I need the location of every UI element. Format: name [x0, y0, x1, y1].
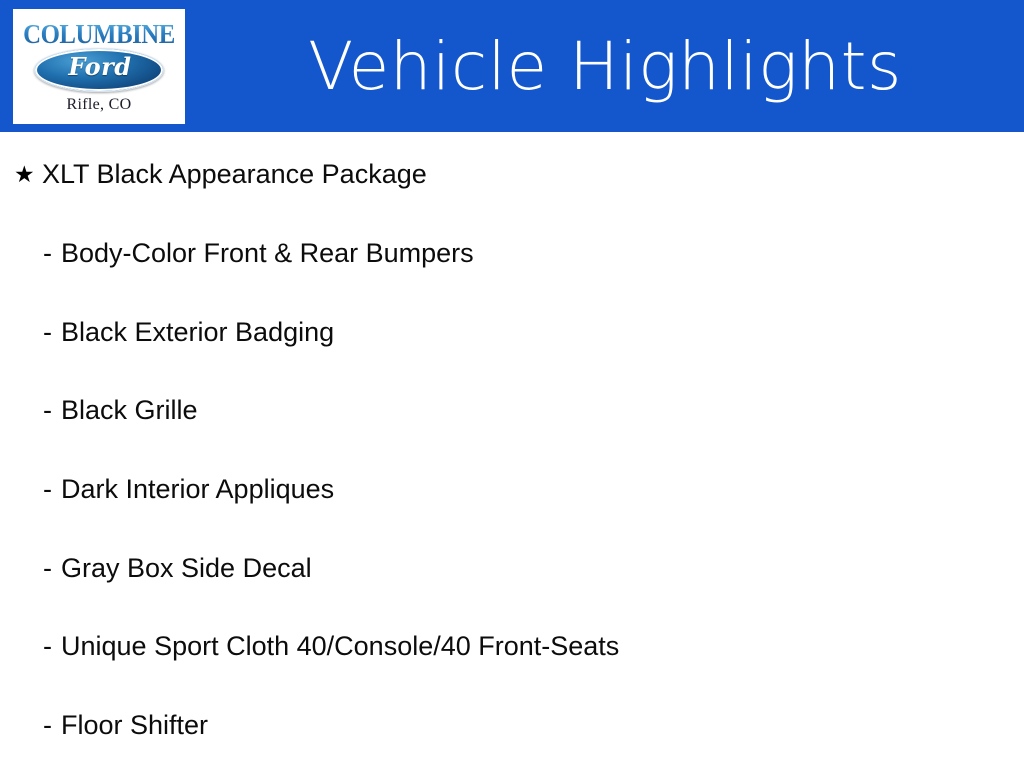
dash-bullet-icon: -: [43, 240, 52, 267]
list-item: -Body-Color Front & Rear Bumpers: [0, 233, 1024, 273]
dash-bullet-icon: -: [43, 555, 52, 582]
list-item: -Black Grille: [0, 390, 1024, 430]
logo-wordmark-ford: Ford: [35, 55, 165, 79]
list-item-label: Floor Shifter: [61, 712, 208, 739]
logo-inner: COLUMBINE Ford Rifle, CO: [13, 9, 185, 124]
ford-oval-icon: Ford: [34, 48, 164, 92]
dash-bullet-icon: -: [43, 319, 52, 346]
list-item: -Gray Box Side Decal: [0, 548, 1024, 588]
list-item: -Unique Sport Cloth 40/Console/40 Front-…: [0, 626, 1024, 666]
dash-bullet-icon: -: [43, 476, 52, 503]
list-item-label: Unique Sport Cloth 40/Console/40 Front-S…: [61, 633, 619, 660]
list-item: -Floor Shifter: [0, 705, 1024, 745]
dash-bullet-icon: -: [43, 712, 52, 739]
list-item: -Black Exterior Badging: [0, 312, 1024, 352]
list-item: ★XLT Black Appearance Package: [0, 154, 1024, 194]
star-bullet-icon: ★: [14, 163, 42, 186]
dash-bullet-icon: -: [43, 633, 52, 660]
dash-bullet-icon: -: [43, 397, 52, 424]
list-item-label: Dark Interior Appliques: [61, 476, 334, 503]
list-item-label: Body-Color Front & Rear Bumpers: [61, 240, 474, 267]
highlights-list: ★XLT Black Appearance Package-Body-Color…: [0, 132, 1024, 768]
list-item: -Dark Interior Appliques: [0, 469, 1024, 509]
logo-location-text: Rifle, CO: [13, 97, 185, 113]
list-item-label: Black Exterior Badging: [61, 319, 334, 346]
page-title: Vehicle Highlights: [186, 0, 1024, 132]
list-item-label: XLT Black Appearance Package: [42, 161, 427, 188]
list-item-label: Black Grille: [61, 397, 198, 424]
logo-wordmark-columbine: COLUMBINE: [20, 21, 178, 48]
dealership-logo: COLUMBINE Ford Rifle, CO: [13, 9, 185, 124]
list-item-label: Gray Box Side Decal: [61, 555, 312, 582]
